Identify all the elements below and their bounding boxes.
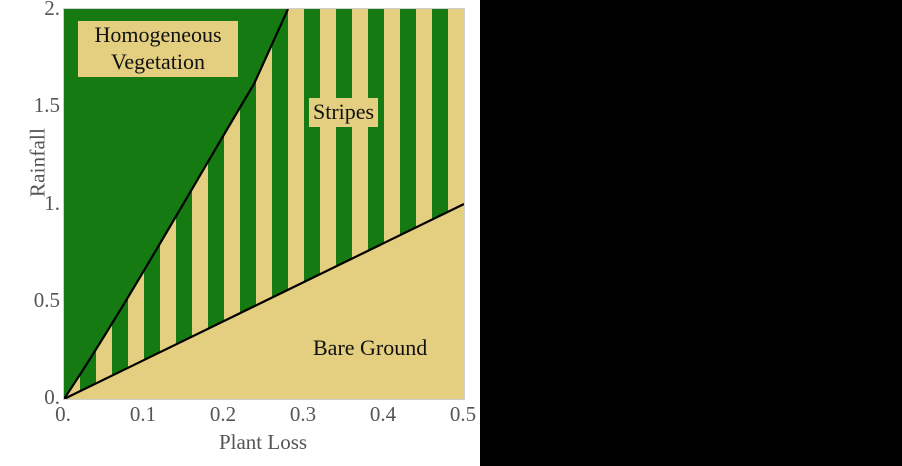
x-axis-title: Plant Loss [63,430,463,455]
x-tick-0_2: 0.2 [193,402,253,427]
figure-root: 2. 1.5 1. 0.5 0. Rainfall [0,0,902,466]
x-tick-0_5: 0.5 [433,402,493,427]
x-tick-0_1: 0.1 [113,402,173,427]
chart-figure: 2. 1.5 1. 0.5 0. Rainfall [0,0,480,466]
x-tick-0: 0. [33,402,93,427]
x-tick-0_4: 0.4 [353,402,413,427]
x-tick-0_3: 0.3 [273,402,333,427]
x-axis-ticks: 0. 0.1 0.2 0.3 0.4 0.5 [0,0,480,466]
